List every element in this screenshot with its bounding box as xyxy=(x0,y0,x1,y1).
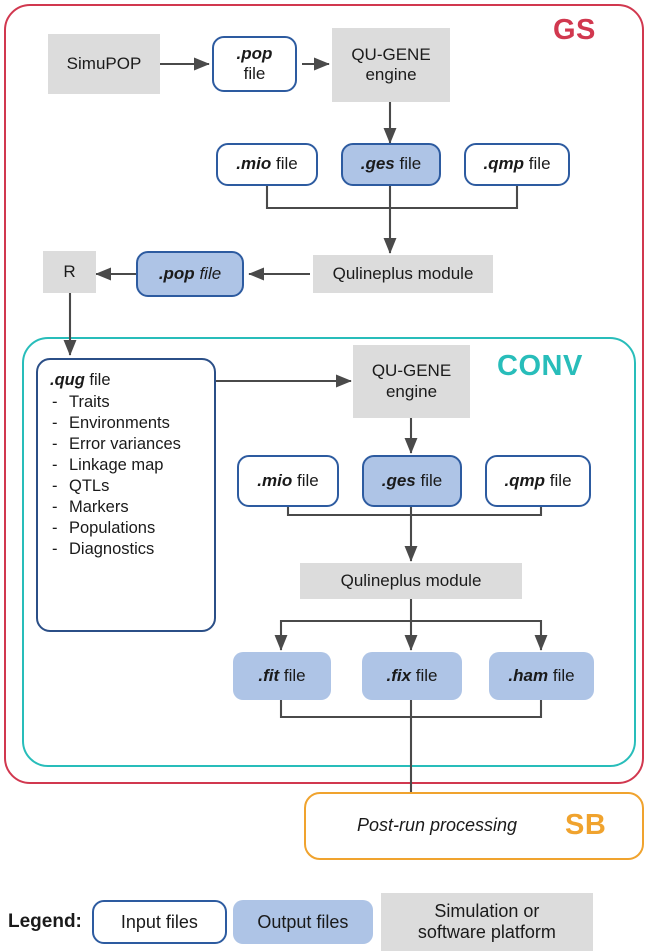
fit-word: file xyxy=(284,666,306,685)
simupop-label: SimuPOP xyxy=(67,54,142,74)
fix-file-node[interactable]: .fix file xyxy=(362,652,462,700)
pop-out-ext: .pop xyxy=(159,264,195,283)
mio-ext-conv: .mio xyxy=(257,471,292,490)
qug-item-environments: Environments xyxy=(69,413,202,434)
qugene-engine-gs-line2: engine xyxy=(365,65,416,84)
r-node[interactable]: R xyxy=(43,251,96,293)
ges-word-gs: file xyxy=(400,154,422,173)
qmp-file-conv-node[interactable]: .qmp file xyxy=(485,455,591,507)
legend-platform-chip: Simulation or software platform xyxy=(381,893,593,951)
qmp-ext-gs: .qmp xyxy=(483,154,524,173)
list-item: -Populations xyxy=(50,518,202,539)
ges-word-conv: file xyxy=(421,471,443,490)
fit-file-node[interactable]: .fit file xyxy=(233,652,331,700)
qug-item-linkage-map: Linkage map xyxy=(69,455,202,476)
qugene-engine-conv-line1: QU-GENE xyxy=(372,361,451,380)
qmp-file-gs-node[interactable]: .qmp file xyxy=(464,143,570,186)
legend: Legend: Input files Output files Simulat… xyxy=(0,893,648,951)
conv-frame-label: CONV xyxy=(497,350,583,383)
qug-item-diagnostics: Diagnostics xyxy=(69,539,202,560)
pop-file-input-node[interactable]: .pop file xyxy=(212,36,297,92)
pop-file-ext: .pop xyxy=(237,44,273,63)
ham-file-node[interactable]: .ham file xyxy=(489,652,594,700)
list-item: -Markers xyxy=(50,497,202,518)
legend-output-files-chip: Output files xyxy=(233,900,373,944)
qug-item-populations: Populations xyxy=(69,518,202,539)
qulineplus-module-gs-node[interactable]: Qulineplus module xyxy=(313,255,493,293)
qug-item-traits: Traits xyxy=(69,392,202,413)
r-label: R xyxy=(63,262,75,282)
qugene-engine-gs-node[interactable]: QU-GENE engine xyxy=(332,28,450,102)
list-item: -Error variances xyxy=(50,434,202,455)
sb-frame-label: SB xyxy=(565,809,606,842)
qulineplus-label-gs: Qulineplus module xyxy=(333,264,474,284)
diagram-canvas: GS CONV SB Post-run processing xyxy=(0,0,648,951)
qug-item-error-variances: Error variances xyxy=(69,434,202,455)
legend-title: Legend: xyxy=(8,911,82,933)
mio-ext-gs: .mio xyxy=(236,154,271,173)
ham-word: file xyxy=(553,666,575,685)
list-item: -QTLs xyxy=(50,476,202,497)
qug-file-node[interactable]: .qug file -Traits -Environments -Error v… xyxy=(36,358,216,632)
bullet-dash: - xyxy=(52,539,61,560)
qmp-word-gs: file xyxy=(529,154,551,173)
ham-ext: .ham xyxy=(508,666,548,685)
bullet-dash: - xyxy=(52,518,61,539)
qugene-engine-conv-node[interactable]: QU-GENE engine xyxy=(353,345,470,418)
bullet-dash: - xyxy=(52,413,61,434)
fix-word: file xyxy=(416,666,438,685)
legend-input-files-label: Input files xyxy=(121,912,198,933)
pop-file-output-node[interactable]: .pop file xyxy=(136,251,244,297)
qulineplus-label-conv: Qulineplus module xyxy=(341,571,482,591)
post-run-processing-text: Post-run processing xyxy=(357,815,517,836)
qug-item-markers: Markers xyxy=(69,497,202,518)
simupop-node[interactable]: SimuPOP xyxy=(48,34,160,94)
list-item: -Environments xyxy=(50,413,202,434)
ges-ext-conv: .ges xyxy=(382,471,416,490)
qmp-word-conv: file xyxy=(550,471,572,490)
bullet-dash: - xyxy=(52,497,61,518)
ges-file-gs-node[interactable]: .ges file xyxy=(341,143,441,186)
pop-file-word: file xyxy=(244,64,266,83)
fit-ext: .fit xyxy=(258,666,279,685)
qug-word: file xyxy=(89,371,110,389)
qmp-ext-conv: .qmp xyxy=(504,471,545,490)
legend-input-files-chip: Input files xyxy=(92,900,227,944)
legend-output-files-label: Output files xyxy=(257,912,348,933)
bullet-dash: - xyxy=(52,476,61,497)
qug-ext: .qug xyxy=(50,371,85,389)
qugene-engine-gs-line1: QU-GENE xyxy=(351,45,430,64)
post-run-processing-label: Post-run processing xyxy=(322,806,552,846)
fix-ext: .fix xyxy=(386,666,411,685)
qulineplus-module-conv-node[interactable]: Qulineplus module xyxy=(300,563,522,599)
gs-frame-label: GS xyxy=(553,14,596,47)
bullet-dash: - xyxy=(52,392,61,413)
bullet-dash: - xyxy=(52,455,61,476)
qug-item-qtls: QTLs xyxy=(69,476,202,497)
qug-contents-list: -Traits -Environments -Error variances -… xyxy=(50,392,202,560)
bullet-dash: - xyxy=(52,434,61,455)
list-item: -Traits xyxy=(50,392,202,413)
mio-word-gs: file xyxy=(276,154,298,173)
legend-platform-line2: software platform xyxy=(418,922,556,942)
ges-file-conv-node[interactable]: .ges file xyxy=(362,455,462,507)
mio-word-conv: file xyxy=(297,471,319,490)
list-item: -Linkage map xyxy=(50,455,202,476)
legend-platform-line1: Simulation or xyxy=(434,901,539,921)
pop-out-word: file xyxy=(199,264,221,283)
qugene-engine-conv-line2: engine xyxy=(386,382,437,401)
ges-ext-gs: .ges xyxy=(361,154,395,173)
qug-file-title: .qug file xyxy=(50,370,202,391)
list-item: -Diagnostics xyxy=(50,539,202,560)
mio-file-conv-node[interactable]: .mio file xyxy=(237,455,339,507)
mio-file-gs-node[interactable]: .mio file xyxy=(216,143,318,186)
